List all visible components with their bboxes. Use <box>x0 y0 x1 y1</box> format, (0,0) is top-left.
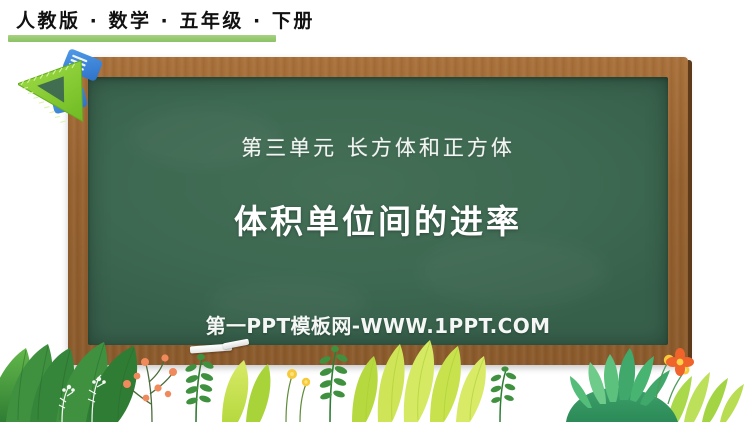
leaf-cluster-mid <box>222 360 270 422</box>
header-title: 人教版 · 数学 · 五年级 · 下册 <box>16 6 315 33</box>
header-accent-bar <box>8 35 276 42</box>
foliage-decoration-right <box>470 342 750 422</box>
unit-subtitle: 第三单元 长方体和正方体 <box>88 132 668 162</box>
chalkboard-surface: 第三单元 长方体和正方体 体积单位间的进率 第一PPT模板网-WWW.1PPT.… <box>88 77 668 345</box>
slide-canvas: 人教版 · 数学 · 五年级 · 下册 第三单元 长方体和正方体 体积单位间的进… <box>0 0 750 422</box>
blade-leaves-center <box>352 340 486 422</box>
ruler-decoration <box>18 42 128 142</box>
header: 人教版 · 数学 · 五年级 · 下册 <box>0 0 300 48</box>
orange-flower-decoration <box>660 342 700 382</box>
page-title: 体积单位间的进率 <box>88 195 668 243</box>
chalkboard-frame: 第三单元 长方体和正方体 体积单位间的进率 第一PPT模板网-WWW.1PPT.… <box>68 57 688 365</box>
yellow-flowers <box>286 369 310 422</box>
triangle-ruler-icon <box>18 52 91 125</box>
chalk-smudge <box>418 237 608 307</box>
